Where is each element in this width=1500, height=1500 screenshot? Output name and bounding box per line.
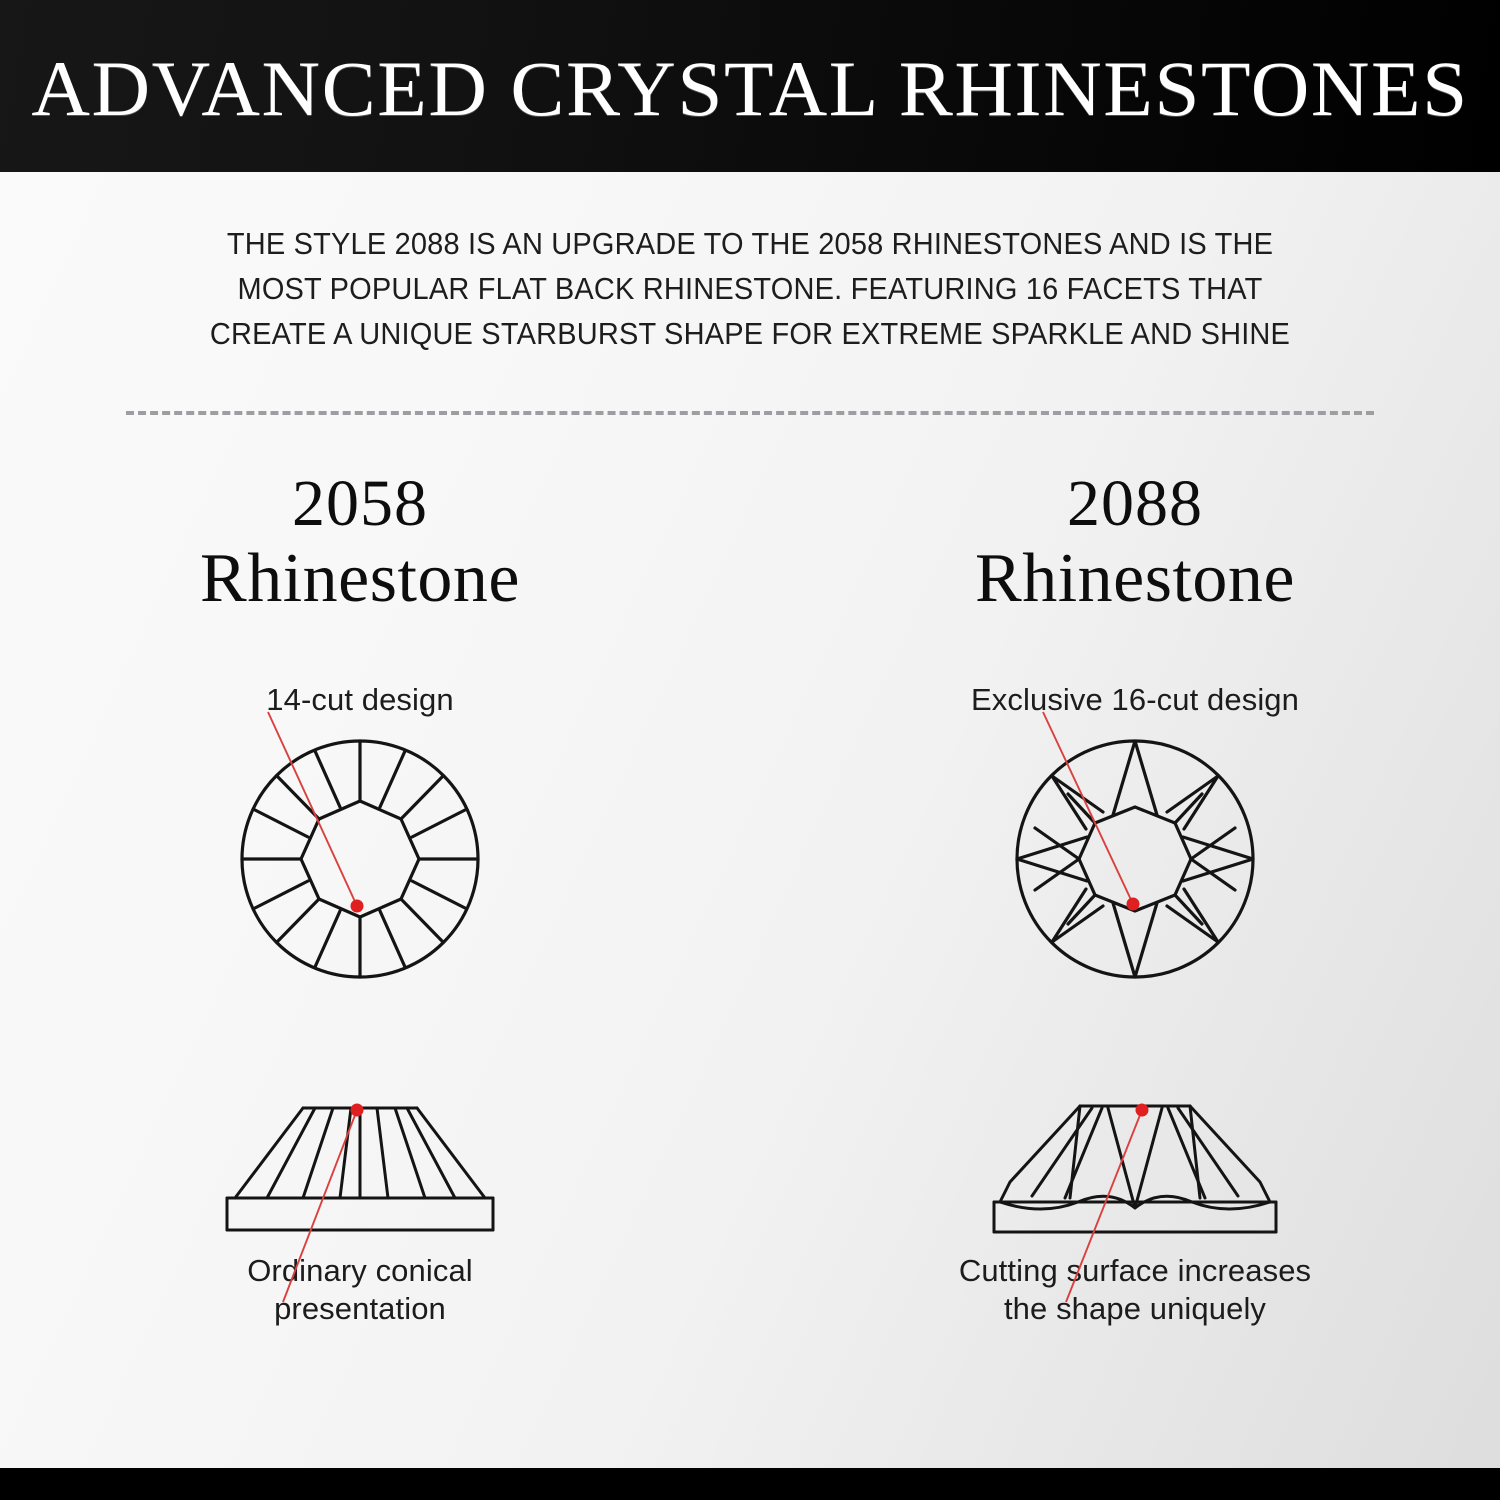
facet-line	[255, 810, 308, 837]
conical-side-profile-diagram	[205, 1090, 515, 1310]
column-2058-title: 2058 Rhinestone	[40, 470, 680, 615]
dotted-divider	[126, 411, 1374, 419]
pointer-line	[283, 1110, 357, 1302]
figure-2088-side-view	[815, 1090, 1455, 1230]
facet-line	[401, 776, 443, 819]
center-v-facet	[1108, 1108, 1162, 1208]
column-2088-title: 2088 Rhinestone	[815, 470, 1455, 615]
round-14-facet-diagram	[220, 724, 500, 994]
header-banner: ADVANCED CRYSTAL RHINESTONES	[0, 0, 1500, 172]
star-point	[1113, 741, 1157, 815]
facet-line	[340, 1108, 351, 1198]
column-2088: 2088 Rhinestone Exclusive 16-cut design	[815, 470, 1455, 1328]
valley-line	[1191, 828, 1235, 859]
facet-line	[255, 881, 308, 908]
round-16-facet-starburst-diagram	[995, 724, 1275, 994]
figure-2058-top-view	[40, 724, 680, 994]
figure-2058-side-view	[40, 1090, 680, 1230]
faceted-starburst-side-profile-diagram	[970, 1090, 1300, 1310]
star-point	[1113, 903, 1157, 977]
facet-line	[277, 899, 319, 942]
column-2058: 2058 Rhinestone 14-cut design	[40, 470, 680, 1328]
facet-line	[412, 810, 465, 837]
facet-line	[412, 881, 465, 908]
page-title: ADVANCED CRYSTAL RHINESTONES	[31, 44, 1468, 128]
facet-line	[407, 1108, 455, 1198]
intro-line-1: THE STYLE 2088 IS AN UPGRADE TO THE 2058…	[152, 222, 1349, 267]
facet-line	[315, 751, 340, 807]
facet-line	[377, 1108, 388, 1198]
column-2088-title-number: 2088	[815, 470, 1455, 537]
intro-line-2: MOST POPULAR FLAT BACK RHINESTONE. FEATU…	[152, 267, 1349, 312]
valley-line	[1035, 859, 1079, 890]
figure-2088-top-view	[815, 724, 1455, 994]
facet-line	[380, 911, 405, 967]
callout-14-cut-design: 14-cut design	[40, 681, 680, 718]
facet-line	[315, 911, 340, 967]
facet-ridge	[1070, 1106, 1080, 1198]
column-2058-title-number: 2058	[40, 470, 680, 537]
column-2088-title-word: Rhinestone	[815, 543, 1455, 614]
callout-16-cut-design: Exclusive 16-cut design	[815, 681, 1455, 718]
valley-line	[1035, 828, 1079, 859]
cone-side-right	[417, 1108, 485, 1198]
facet-line	[395, 1108, 425, 1198]
intro-line-3: CREATE A UNIQUE STARBURST SHAPE FOR EXTR…	[152, 312, 1349, 357]
cone-side-left	[235, 1108, 303, 1198]
facet-line	[380, 751, 405, 807]
intro-paragraph: THE STYLE 2088 IS AN UPGRADE TO THE 2058…	[152, 222, 1349, 357]
pointer-dot	[1136, 1103, 1149, 1116]
footer-bar	[0, 1468, 1500, 1500]
facet-line	[401, 899, 443, 942]
facet-line	[277, 776, 319, 819]
facet-ridge	[1190, 1106, 1200, 1198]
pointer-dot	[1127, 897, 1140, 910]
valley-line	[1191, 859, 1235, 890]
pointer-dot	[351, 899, 364, 912]
infographic-page: ADVANCED CRYSTAL RHINESTONES THE STYLE 2…	[0, 0, 1500, 1500]
column-2058-title-word: Rhinestone	[40, 543, 680, 614]
pointer-dot	[351, 1103, 364, 1116]
